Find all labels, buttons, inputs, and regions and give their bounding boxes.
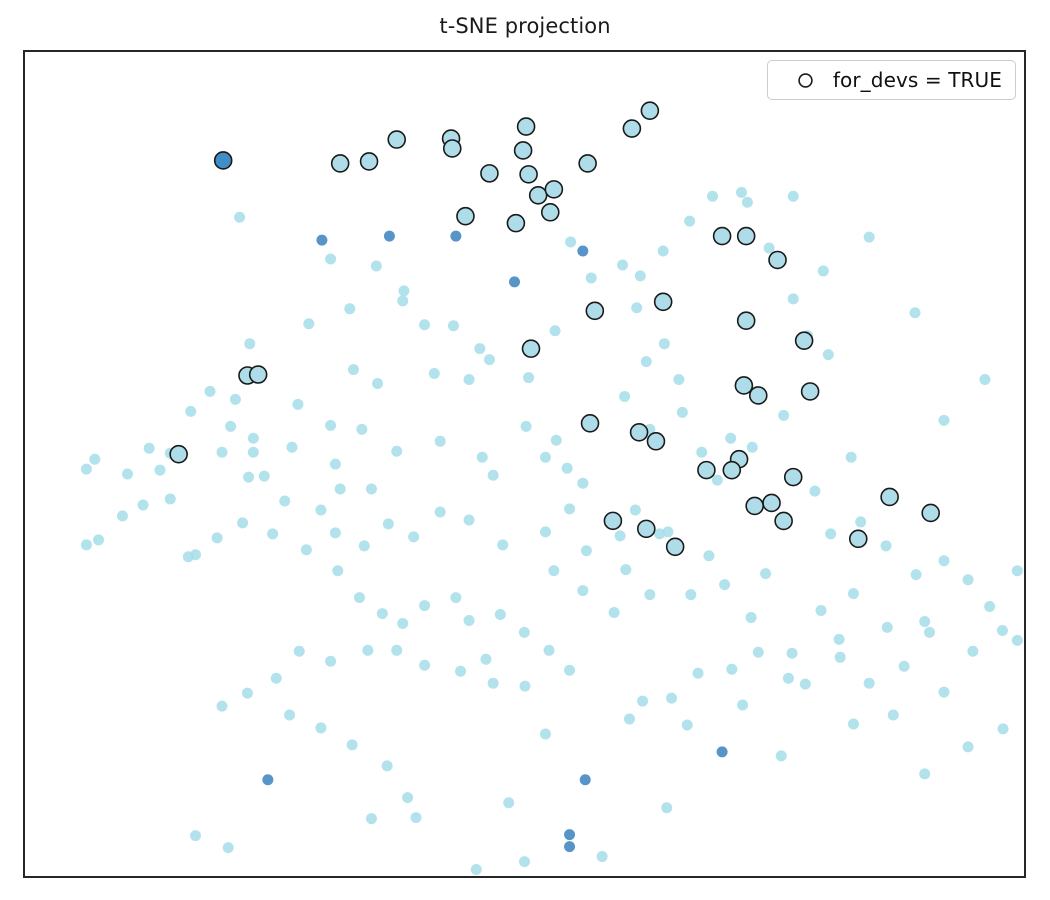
scatter-point (818, 265, 829, 276)
scatter-point (419, 660, 430, 671)
scatter-point (332, 565, 343, 576)
scatter-point (717, 746, 728, 757)
legend-label-for-devs: for_devs = TRUE (833, 68, 1002, 92)
scatter-point (507, 215, 524, 232)
scatter-point (661, 802, 672, 813)
scatter-point (631, 302, 642, 313)
scatter-point (315, 504, 326, 515)
scatter-point (93, 534, 104, 545)
scatter-point (435, 506, 446, 517)
scatter-point (984, 601, 995, 612)
scatter-point (384, 231, 395, 242)
scatter-point (81, 464, 92, 475)
scatter-point (580, 774, 591, 785)
scatter-point (963, 574, 974, 585)
scatter-point (848, 718, 859, 729)
scatter-point (577, 478, 588, 489)
scatter-point (495, 609, 506, 620)
scatter-point (335, 484, 346, 495)
scatter-point (391, 446, 402, 457)
scatter-point (577, 246, 588, 257)
scatter-point (581, 545, 592, 556)
scatter-point (747, 442, 758, 453)
scatter-point (631, 424, 648, 441)
scatter-point (673, 374, 684, 385)
scatter-point (391, 645, 402, 656)
scatter-point (967, 646, 978, 657)
scatter-point (693, 668, 704, 679)
scatter-point (864, 678, 875, 689)
scatter-point (963, 741, 974, 752)
scatter-point (816, 605, 827, 616)
scatter-point (726, 664, 737, 675)
scatter-point (763, 494, 780, 511)
scatter-point (624, 714, 635, 725)
scatter-point (997, 625, 1008, 636)
scatter-point (448, 320, 459, 331)
scatter-point (919, 768, 930, 779)
scatter-point (354, 592, 365, 603)
scatter-point (215, 152, 232, 169)
scatter-point (388, 131, 405, 148)
scatter-point (217, 447, 228, 458)
scatter-point (565, 237, 576, 248)
scatter-point (330, 459, 341, 470)
scatter-point (286, 442, 297, 453)
scatter-point (638, 520, 655, 537)
page-title: t-SNE projection (0, 14, 1050, 38)
scatter-point (359, 540, 370, 551)
scatter-point (776, 750, 787, 761)
scatter-point (658, 246, 669, 257)
scatter-point (144, 443, 155, 454)
scatter-point (542, 204, 559, 221)
scatter-point (1012, 565, 1023, 576)
scatter-point (484, 354, 495, 365)
scatter-point (398, 285, 409, 296)
scatter-point (382, 760, 393, 771)
scatter-point (480, 654, 491, 665)
scatter-point (753, 647, 764, 658)
scatter-point (615, 530, 626, 541)
scatter-point (586, 272, 597, 283)
scatter-point (455, 666, 466, 677)
scatter-point (330, 527, 341, 538)
scatter-point (205, 386, 216, 397)
scatter-point (237, 517, 248, 528)
scatter-point (457, 208, 474, 225)
scatter-point (234, 212, 245, 223)
scatter-point (785, 469, 802, 486)
scatter-point (609, 607, 620, 618)
scatter-point (488, 678, 499, 689)
open-circle-icon (797, 72, 814, 89)
scatter-point (250, 366, 267, 383)
scatter-point (787, 648, 798, 659)
scatter-point (212, 532, 223, 543)
scatter-point (242, 688, 253, 699)
scatter-point (846, 452, 857, 463)
scatter-point (450, 231, 461, 242)
scatter-point (523, 340, 540, 357)
scatter-point (225, 421, 236, 432)
scatter-point (545, 181, 562, 198)
scatter-point (924, 627, 935, 638)
scatter-point (366, 813, 377, 824)
scatter-point (230, 394, 241, 405)
scatter-point (577, 585, 588, 596)
scatter-point (344, 303, 355, 314)
scatter-point (623, 120, 640, 137)
scatter-point (910, 307, 921, 318)
scatter-point (712, 475, 723, 486)
scatter-point (530, 187, 547, 204)
scatter-point (284, 710, 295, 721)
scatter-point (464, 514, 475, 525)
scatter-point (579, 155, 596, 172)
scatter-point (750, 387, 767, 404)
scatter-point (267, 528, 278, 539)
scatter-point (979, 374, 990, 385)
scatter-point (303, 318, 314, 329)
scatter-point (619, 391, 630, 402)
scatter-point (217, 701, 228, 712)
scatter-point (725, 433, 736, 444)
scatter-point (564, 829, 575, 840)
scatter-point (497, 539, 508, 550)
scatter-point (938, 415, 949, 426)
scatter-point (397, 295, 408, 306)
scatter-point (864, 232, 875, 243)
scatter-point (746, 612, 757, 623)
scatter-point (723, 462, 740, 479)
scatter-point (685, 589, 696, 600)
scatter-point (850, 530, 867, 547)
scatter-point (89, 454, 100, 465)
scatter-point (248, 433, 259, 444)
scatter-point (617, 260, 628, 271)
scatter-point (356, 424, 367, 435)
scatter-point (742, 197, 753, 208)
scatter-point (509, 276, 520, 287)
scatter-point (519, 627, 530, 638)
scatter-point (823, 349, 834, 360)
scatter-point (802, 383, 819, 400)
scatter-point (696, 447, 707, 458)
scatter-point (315, 722, 326, 733)
scatter-point (647, 433, 664, 450)
scatter-point (259, 471, 270, 482)
scatter-point (735, 377, 752, 394)
scatter-point (474, 343, 485, 354)
scatter-point (888, 710, 899, 721)
scatter-point (855, 516, 866, 527)
scatter-point (444, 140, 461, 157)
scatter-point (783, 673, 794, 684)
scatter-points-layer (25, 52, 1024, 876)
scatter-point (635, 270, 646, 281)
tsne-figure: t-SNE projection for_devs = TRUE (0, 0, 1050, 900)
scatter-point (564, 841, 575, 852)
scatter-point (170, 446, 187, 463)
scatter-point (760, 568, 771, 579)
scatter-point (666, 693, 677, 704)
scatter-point (719, 579, 730, 590)
scatter-point (165, 493, 176, 504)
scatter-point (397, 618, 408, 629)
scatter-point (562, 463, 573, 474)
scatter-point (294, 646, 305, 657)
scatter-point (81, 539, 92, 550)
scatter-point (775, 512, 792, 529)
scatter-point (223, 842, 234, 853)
scatter-point (377, 608, 388, 619)
scatter-point (117, 510, 128, 521)
scatter-point (684, 216, 695, 227)
scatter-point (411, 812, 422, 823)
scatter-point (564, 665, 575, 676)
scatter-point (477, 452, 488, 463)
scatter-point (548, 565, 559, 576)
scatter-point (540, 526, 551, 537)
scatter-point (597, 851, 608, 862)
scatter-point (641, 102, 658, 119)
scatter-point (667, 538, 684, 555)
scatter-point (271, 673, 282, 684)
scatter-point (122, 469, 133, 480)
scatter-point (834, 634, 845, 645)
legend-marker-cell (779, 72, 833, 89)
scatter-point (435, 436, 446, 447)
scatter-point (655, 293, 672, 310)
scatter-point (408, 531, 419, 542)
scatter-point (544, 645, 555, 656)
scatter-point (371, 260, 382, 271)
scatter-point (347, 739, 358, 750)
scatter-point (550, 325, 561, 336)
scatter-point (383, 518, 394, 529)
scatter-point (402, 792, 413, 803)
scatter-point (659, 338, 670, 349)
scatter-point (998, 723, 1009, 734)
scatter-point (540, 729, 551, 740)
scatter-point (682, 719, 693, 730)
scatter-point (662, 526, 673, 537)
scatter-point (244, 338, 255, 349)
scatter-point (540, 452, 551, 463)
scatter-point (520, 166, 537, 183)
scatter-point (564, 503, 575, 514)
scatter-point (788, 293, 799, 304)
scatter-point (348, 364, 359, 375)
scatter-point (316, 235, 327, 246)
scatter-point (835, 652, 846, 663)
scatter-point (154, 465, 165, 476)
scatter-point (138, 499, 149, 510)
scatter-point (738, 312, 755, 329)
plot-area: for_devs = TRUE (23, 50, 1026, 878)
scatter-point (586, 302, 603, 319)
scatter-point (366, 484, 377, 495)
scatter-point (796, 332, 813, 349)
scatter-point (419, 600, 430, 611)
scatter-point (848, 588, 859, 599)
scatter-point (262, 774, 273, 785)
scatter-point (703, 550, 714, 561)
scatter-point (190, 549, 201, 560)
legend[interactable]: for_devs = TRUE (767, 60, 1016, 100)
scatter-point (279, 496, 290, 507)
scatter-series (81, 187, 1023, 875)
scatter-point (551, 435, 562, 446)
scatter-point (882, 622, 893, 633)
scatter-point (419, 319, 430, 330)
scatter-point (372, 378, 383, 389)
scatter-point (521, 421, 532, 432)
scatter-point (769, 251, 786, 268)
scatter-point (620, 564, 631, 575)
scatter-point (737, 700, 748, 711)
scatter-point (707, 191, 718, 202)
scatter-point (644, 589, 655, 600)
scatter-point (738, 228, 755, 245)
scatter-point (292, 399, 303, 410)
scatter-point (881, 488, 898, 505)
scatter-point (464, 615, 475, 626)
scatter-point (746, 497, 763, 514)
scatter-point (362, 645, 373, 656)
scatter-point (1012, 635, 1023, 646)
scatter-point (677, 407, 688, 418)
scatter-point (604, 512, 621, 529)
scatter-point (325, 420, 336, 431)
scatter-point (464, 374, 475, 385)
scatter-point (788, 191, 799, 202)
scatter-point (800, 679, 811, 690)
scatter-point (332, 155, 349, 172)
scatter-point (481, 165, 498, 182)
scatter-point (185, 406, 196, 417)
scatter-point (450, 592, 461, 603)
scatter-point (519, 856, 530, 867)
scatter-point (429, 368, 440, 379)
scatter-point (488, 470, 499, 481)
scatter-point (637, 696, 648, 707)
scatter-point (190, 830, 201, 841)
scatter-point (361, 153, 378, 170)
scatter-point (809, 486, 820, 497)
scatter-point (938, 555, 949, 566)
scatter-point (911, 569, 922, 580)
scatter-point (714, 228, 731, 245)
scatter-point (899, 661, 910, 672)
scatter-point (515, 142, 532, 159)
scatter-point (523, 372, 534, 383)
scatter-point (919, 616, 930, 627)
scatter-point (736, 187, 747, 198)
scatter-point (825, 528, 836, 539)
scatter-point (582, 415, 599, 432)
scatter-point (503, 797, 514, 808)
scatter-point (938, 687, 949, 698)
scatter-point (630, 504, 641, 515)
scatter-point (641, 356, 652, 367)
scatter-point (301, 544, 312, 555)
scatter-point (243, 472, 254, 483)
scatter-point (520, 681, 531, 692)
scatter-point (518, 118, 535, 135)
scatter-point (778, 410, 789, 421)
scatter-point (325, 253, 336, 264)
scatter-point (325, 656, 336, 667)
scatter-point (248, 447, 259, 458)
scatter-point (881, 540, 892, 551)
scatter-point (922, 504, 939, 521)
scatter-point (698, 462, 715, 479)
scatter-point (471, 864, 482, 875)
